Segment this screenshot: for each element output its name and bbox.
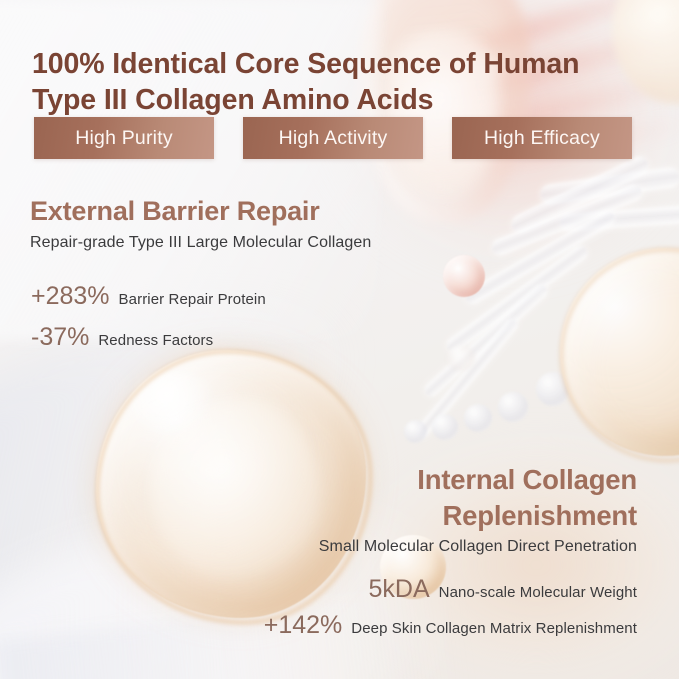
stat-nano-scale-molecular-weight: 5kDA Nano-scale Molecular Weight — [369, 575, 638, 604]
stat-value: +283% — [31, 282, 110, 311]
section-heading-line-2: Replenishment — [442, 500, 637, 531]
page-title-line-2: Type III Collagen Amino Acids — [32, 84, 433, 116]
stat-label: Barrier Repair Protein — [119, 291, 266, 308]
section-heading-internal-collagen-replenishment: Internal Collagen Replenishment — [277, 462, 637, 534]
badge-high-activity[interactable]: High Activity — [243, 117, 423, 159]
stat-deep-skin-collagen-matrix-replenishment: +142% Deep Skin Collagen Matrix Replenis… — [264, 611, 637, 640]
poster-content: 100% Identical Core Sequence of Human Ty… — [0, 0, 679, 679]
badge-label: High Efficacy — [484, 127, 600, 150]
section-subheading-internal-collagen-replenishment: Small Molecular Collagen Direct Penetrat… — [319, 538, 637, 556]
stat-label: Redness Factors — [98, 332, 213, 349]
page-title-line-1: 100% Identical Core Sequence of Human — [32, 48, 579, 80]
badge-label: High Purity — [75, 127, 173, 150]
stat-label: Nano-scale Molecular Weight — [439, 584, 637, 601]
section-heading-line-1: Internal Collagen — [417, 464, 637, 495]
stat-label: Deep Skin Collagen Matrix Replenishment — [351, 620, 637, 637]
stat-value: 5kDA — [369, 575, 430, 604]
section-subheading-external-barrier-repair: Repair-grade Type III Large Molecular Co… — [30, 234, 371, 252]
benefit-badge-row: High Purity High Activity High Efficacy — [34, 117, 646, 159]
badge-label: High Activity — [279, 127, 388, 150]
badge-high-efficacy[interactable]: High Efficacy — [452, 117, 632, 159]
page-title: 100% Identical Core Sequence of Human Ty… — [32, 47, 632, 119]
stat-redness-factors: -37% Redness Factors — [31, 323, 213, 352]
collagen-infographic-poster: 100% Identical Core Sequence of Human Ty… — [0, 0, 679, 679]
badge-high-purity[interactable]: High Purity — [34, 117, 214, 159]
section-heading-external-barrier-repair: External Barrier Repair — [30, 196, 320, 227]
stat-value: +142% — [264, 611, 343, 640]
stat-value: -37% — [31, 323, 89, 352]
stat-barrier-repair-protein: +283% Barrier Repair Protein — [31, 282, 266, 311]
